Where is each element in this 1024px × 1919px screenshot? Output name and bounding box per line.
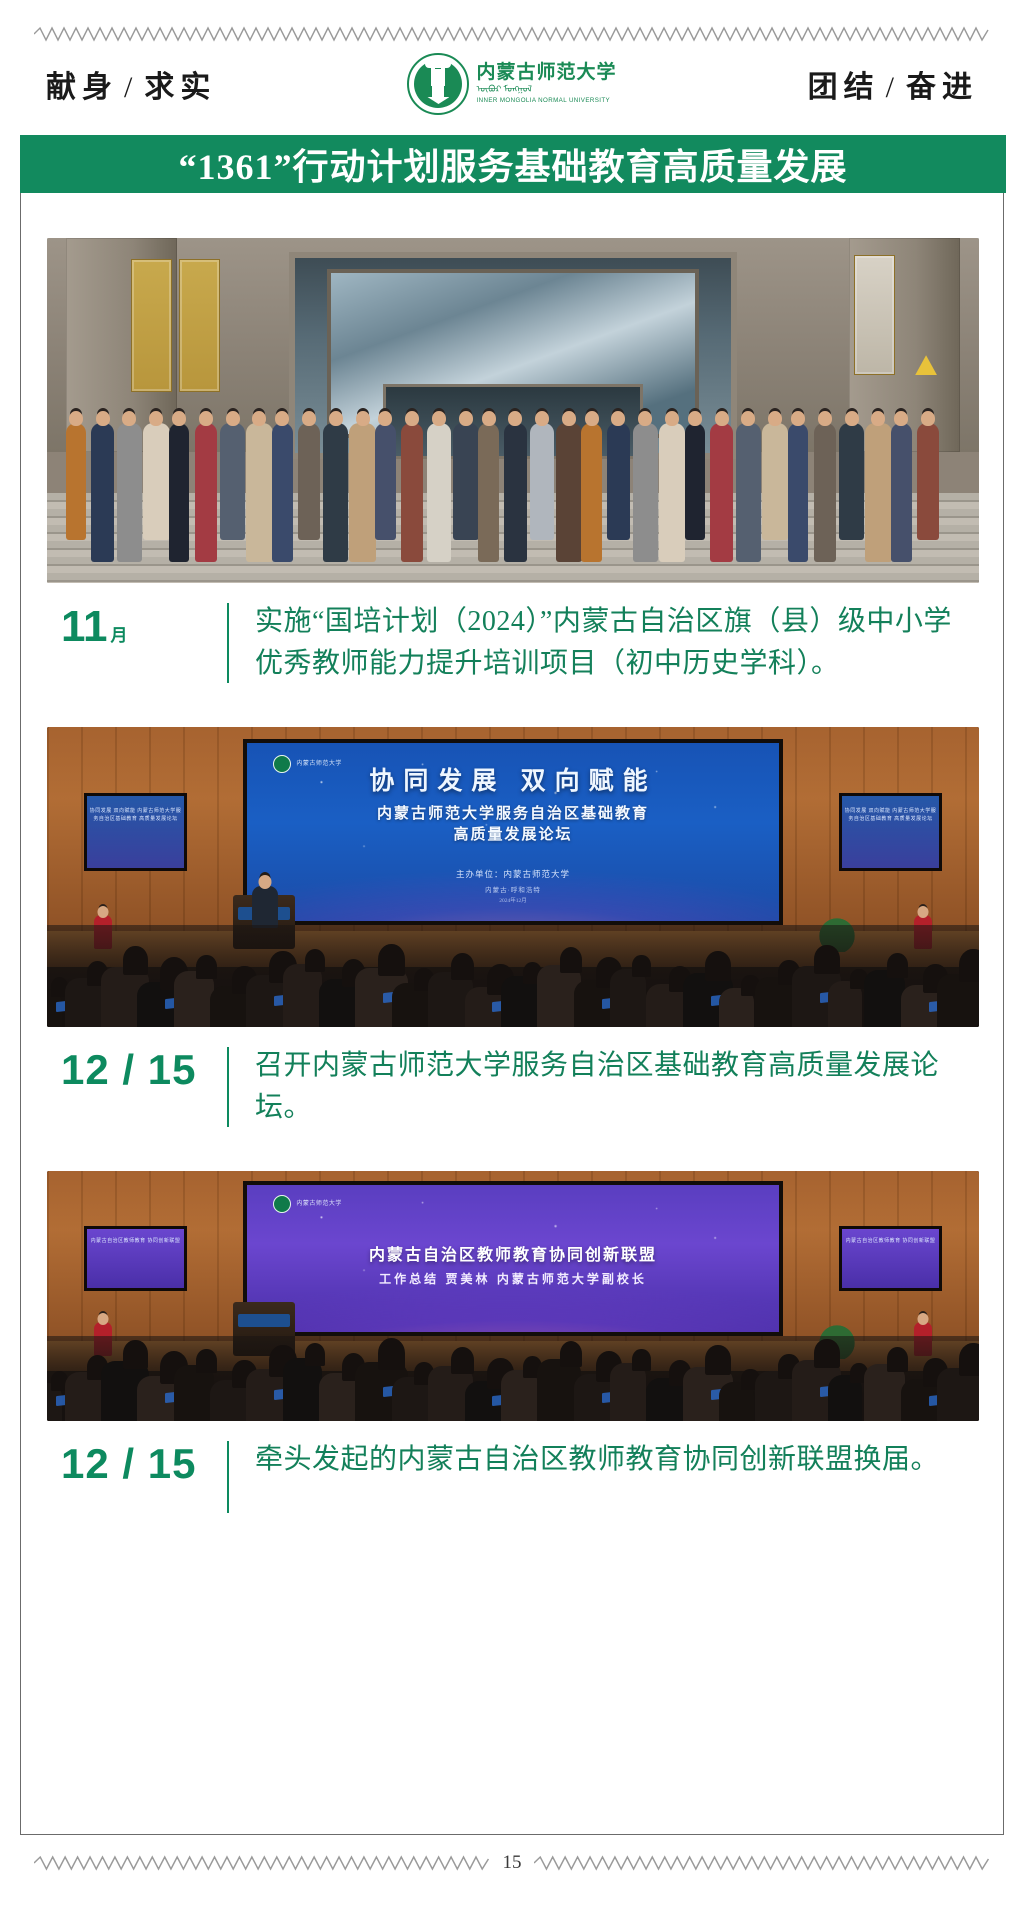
- person-figure: [917, 423, 940, 540]
- motto-right-word2: 奋进: [906, 71, 978, 104]
- entry-date: 11 月: [61, 601, 221, 649]
- entry-caption-text: 实施“国培计划（2024）”内蒙古自治区旗（县）级中小学优秀教师能力提升培训项目…: [255, 601, 955, 685]
- person-figure: [66, 423, 87, 540]
- audience-head: [196, 955, 217, 979]
- entry-date-main: 12 / 15: [61, 1049, 196, 1091]
- audience-head: [959, 1343, 979, 1376]
- entry-photo-forum: 协同发展 双向赋能 内蒙古师范大学服务自治区基础教育 高质量发展论坛 协同发展 …: [47, 727, 979, 1027]
- person-figure: [478, 423, 499, 563]
- person-figure: [401, 423, 424, 563]
- university-name-cn: 内蒙古师范大学: [476, 63, 616, 82]
- person-head: [508, 411, 522, 426]
- person-figure: [633, 423, 658, 563]
- person-head: [96, 411, 110, 426]
- audience-figure: [610, 969, 646, 1027]
- person-head: [845, 411, 859, 426]
- audience-head: [705, 1345, 731, 1375]
- wave-rule-icon: [534, 1855, 991, 1871]
- audience-head: [305, 949, 325, 972]
- speaker-figure: [252, 886, 278, 928]
- person-figure: [581, 423, 602, 563]
- entry-photo-alliance: 内蒙古自治区教师教育 协同创新联盟 内蒙古自治区教师教育 协同创新联盟 内蒙古师…: [47, 1171, 979, 1421]
- audience-head: [632, 1349, 651, 1371]
- audience-area: [47, 1336, 979, 1421]
- person-head: [356, 411, 370, 426]
- side-screen-text: 内蒙古自治区教师教育 协同创新联盟: [842, 1238, 939, 1246]
- person-figure: [685, 423, 706, 540]
- screen-logo-text: 内蒙古师范大学: [296, 1200, 342, 1208]
- person-head: [329, 411, 343, 426]
- audience-figure: [864, 970, 905, 1027]
- screen-subtitle-line1: 内蒙古师范大学服务自治区基础教育: [247, 802, 780, 823]
- side-led-screen-left: 内蒙古自治区教师教育 协同创新联盟: [84, 1226, 187, 1291]
- page-number: 15: [503, 1852, 522, 1874]
- audience-head: [560, 947, 583, 973]
- person-head: [482, 411, 496, 426]
- person-head: [378, 411, 392, 426]
- person-figure: [117, 423, 142, 563]
- entry-caption-row: 12 / 15 召开内蒙古师范大学服务自治区基础教育高质量发展论坛。: [47, 1045, 977, 1129]
- person-head: [611, 411, 625, 426]
- audience-area: [47, 925, 979, 1027]
- entry-caption-row: 11 月 实施“国培计划（2024）”内蒙古自治区旗（县）级中小学优秀教师能力提…: [47, 601, 977, 685]
- audience-head: [705, 951, 731, 981]
- timeline-entry: 内蒙古自治区教师教育 协同创新联盟 内蒙古自治区教师教育 协同创新联盟 内蒙古师…: [47, 1171, 977, 1515]
- audience-figure: [610, 1363, 646, 1421]
- screen-subtitle-line2: 高质量发展论坛: [247, 823, 780, 844]
- wave-rule-icon: [34, 26, 990, 42]
- motto-right-separator: /: [880, 71, 906, 104]
- side-led-screen-left: 协同发展 双向赋能 内蒙古师范大学服务自治区基础教育 高质量发展论坛: [84, 793, 187, 871]
- entry-date-main: 11: [61, 605, 108, 649]
- entry-caption-text: 牵头发起的内蒙古自治区教师教育协同创新联盟换届。: [255, 1439, 939, 1481]
- person-head: [405, 411, 419, 426]
- person-head: [871, 411, 885, 426]
- audience-figure: [283, 1358, 322, 1421]
- person-head: [585, 411, 599, 426]
- motto-right: 团结/奋进: [808, 62, 978, 106]
- person-figure: [375, 423, 396, 540]
- audience-figure: [174, 1365, 214, 1421]
- person-head: [535, 411, 549, 426]
- entry-caption-row: 12 / 15 牵头发起的内蒙古自治区教师教育协同创新联盟换届。: [47, 1439, 977, 1515]
- caption-divider: [227, 1047, 229, 1127]
- person-head: [638, 411, 652, 426]
- screen-host-text: 主办单位：内蒙古师范大学: [247, 868, 780, 880]
- person-head: [199, 411, 213, 426]
- university-seal-icon: [407, 53, 469, 115]
- timeline-entry: 协同发展 双向赋能 内蒙古师范大学服务自治区基础教育 高质量发展论坛 协同发展 …: [47, 727, 977, 1129]
- person-figure: [504, 423, 527, 563]
- page-header: 献身/求实 内蒙古师范大学 ᠥᠪᠥᠷ ᠮᠣᠩᠭᠣᠯ INNER MONGOLIA…: [0, 0, 1024, 120]
- screen-subline: 工作总结 贾美林 内蒙古师范大学副校长: [247, 1270, 780, 1287]
- screen-headline: 协同发展 双向赋能: [247, 761, 780, 797]
- person-figure: [427, 423, 452, 563]
- side-led-screen-right: 协同发展 双向赋能 内蒙古师范大学服务自治区基础教育 高质量发展论坛: [839, 793, 942, 871]
- person-head: [791, 411, 805, 426]
- person-head: [768, 411, 782, 426]
- person-head: [715, 411, 729, 426]
- person-figure: [220, 423, 245, 540]
- audience-head: [887, 1347, 908, 1372]
- person-figure: [710, 423, 733, 563]
- screen-seal-icon: [273, 1195, 291, 1213]
- motto-left-word1: 献身: [46, 71, 118, 104]
- person-head: [818, 411, 832, 426]
- wave-rule-icon: [34, 1855, 491, 1871]
- person-figure: [659, 423, 685, 563]
- side-screen-text: 内蒙古自治区教师教育 协同创新联盟: [87, 1238, 184, 1246]
- audience-head: [123, 946, 148, 975]
- footer-rule-right: [534, 1855, 991, 1871]
- entry-date: 12 / 15: [61, 1439, 221, 1485]
- main-led-screen: 内蒙古师范大学 内蒙古自治区教师教育协同创新联盟 工作总结 贾美林 内蒙古师范大…: [243, 1181, 784, 1336]
- audience-head: [378, 1338, 406, 1370]
- person-figure: [607, 423, 630, 540]
- audience-head: [305, 1343, 325, 1366]
- caption-divider: [227, 603, 229, 683]
- main-led-screen: 内蒙古师范大学 协同发展 双向赋能 内蒙古师范大学服务自治区基础教育 高质量发展…: [243, 739, 784, 925]
- person-head: [741, 411, 755, 426]
- section-banner-title: “1361”行动计划服务基础教育高质量发展: [178, 138, 847, 190]
- person-head: [894, 411, 908, 426]
- section-banner: “1361”行动计划服务基础教育高质量发展: [20, 135, 1006, 193]
- timeline-list: 11 月 实施“国培计划（2024）”内蒙古自治区旗（县）级中小学优秀教师能力提…: [21, 194, 1003, 1834]
- motto-left: 献身/求实: [46, 62, 216, 106]
- person-figure: [195, 423, 218, 563]
- entry-caption-text: 召开内蒙古师范大学服务自治区基础教育高质量发展论坛。: [255, 1045, 955, 1129]
- audience-head: [451, 953, 474, 980]
- person-head: [226, 411, 240, 426]
- side-led-screen-right: 内蒙古自治区教师教育 协同创新联盟: [839, 1226, 942, 1291]
- person-figure: [865, 423, 891, 563]
- person-head: [459, 411, 473, 426]
- screen-university-logo: 内蒙古师范大学: [273, 1195, 342, 1213]
- audience-head: [378, 944, 406, 976]
- person-figure: [143, 423, 169, 540]
- masthead: 献身/求实 内蒙古师范大学 ᠥᠪᠥᠷ ᠮᠣᠩᠭᠣᠯ INNER MONGOLIA…: [0, 42, 1024, 120]
- entry-date-main: 12 / 15: [61, 1443, 196, 1485]
- audience-head: [814, 945, 839, 974]
- audience-figure: [174, 971, 214, 1027]
- person-head: [302, 411, 316, 426]
- screen-place-text: 内蒙古·呼和浩特: [247, 884, 780, 894]
- audience-head: [959, 949, 979, 982]
- audience-head: [451, 1347, 474, 1374]
- audience-head: [560, 1341, 583, 1367]
- person-figure: [246, 423, 272, 563]
- person-head: [69, 411, 83, 426]
- side-screen-text: 协同发展 双向赋能 内蒙古师范大学服务自治区基础教育 高质量发展论坛: [87, 808, 184, 824]
- audience-head: [123, 1340, 148, 1369]
- university-logo-text: 内蒙古师范大学 ᠥᠪᠥᠷ ᠮᠣᠩᠭᠣᠯ INNER MONGOLIA NORMA…: [476, 63, 616, 104]
- university-name-en: INNER MONGOLIA NORMAL UNIVERSITY: [476, 98, 616, 104]
- top-decorative-rule: [0, 0, 1024, 42]
- person-figure: [788, 423, 809, 563]
- person-figure: [814, 423, 837, 563]
- audience-head: [196, 1349, 217, 1373]
- person-figure: [272, 423, 293, 563]
- audience-head: [632, 955, 651, 977]
- person-figure: [323, 423, 348, 563]
- motto-right-word1: 团结: [808, 71, 880, 104]
- entry-photo-group-photo: [47, 238, 979, 583]
- side-screen-text: 协同发展 双向赋能 内蒙古师范大学服务自治区基础教育 高质量发展论坛: [842, 808, 939, 824]
- content-card: “1361”行动计划服务基础教育高质量发展: [20, 135, 1004, 1835]
- university-name-mongolian: ᠥᠪᠥᠷ ᠮᠣᠩᠭᠣᠯ: [476, 85, 616, 94]
- person-head: [665, 411, 679, 426]
- person-head: [688, 411, 702, 426]
- person-figure: [169, 423, 190, 563]
- person-figure: [762, 423, 788, 540]
- screen-date-text: 2024年12月: [247, 896, 780, 904]
- audience-head: [814, 1339, 839, 1368]
- people-row: [66, 404, 961, 563]
- person-head: [149, 411, 163, 426]
- person-figure: [298, 423, 321, 540]
- page-footer: 15: [0, 1852, 1024, 1874]
- entry-date: 12 / 15: [61, 1045, 221, 1091]
- person-figure: [349, 423, 375, 563]
- person-figure: [556, 423, 582, 563]
- audience-head: [887, 953, 908, 978]
- person-figure: [91, 423, 114, 563]
- university-logo: 内蒙古师范大学 ᠥᠪᠥᠷ ᠮᠣᠩᠭᠣᠯ INNER MONGOLIA NORMA…: [407, 53, 616, 115]
- audience-figure: [283, 964, 322, 1027]
- person-head: [172, 411, 186, 426]
- person-head: [562, 411, 576, 426]
- timeline-entry: 11 月 实施“国培计划（2024）”内蒙古自治区旗（县）级中小学优秀教师能力提…: [47, 238, 977, 685]
- person-figure: [736, 423, 761, 563]
- footer-rule-left: [34, 1855, 491, 1871]
- screen-headline: 内蒙古自治区教师教育协同创新联盟: [247, 1241, 780, 1265]
- person-figure: [530, 423, 555, 540]
- caption-divider: [227, 1441, 229, 1513]
- motto-left-separator: /: [118, 71, 144, 104]
- person-figure: [891, 423, 912, 563]
- person-head: [275, 411, 289, 426]
- person-figure: [839, 423, 864, 540]
- person-figure: [453, 423, 479, 540]
- person-head: [122, 411, 136, 426]
- audience-figure: [864, 1364, 905, 1421]
- entry-date-suffix: 月: [111, 627, 128, 644]
- motto-left-word2: 求实: [144, 71, 216, 104]
- person-head: [432, 411, 446, 426]
- person-head: [252, 411, 266, 426]
- person-head: [921, 411, 935, 426]
